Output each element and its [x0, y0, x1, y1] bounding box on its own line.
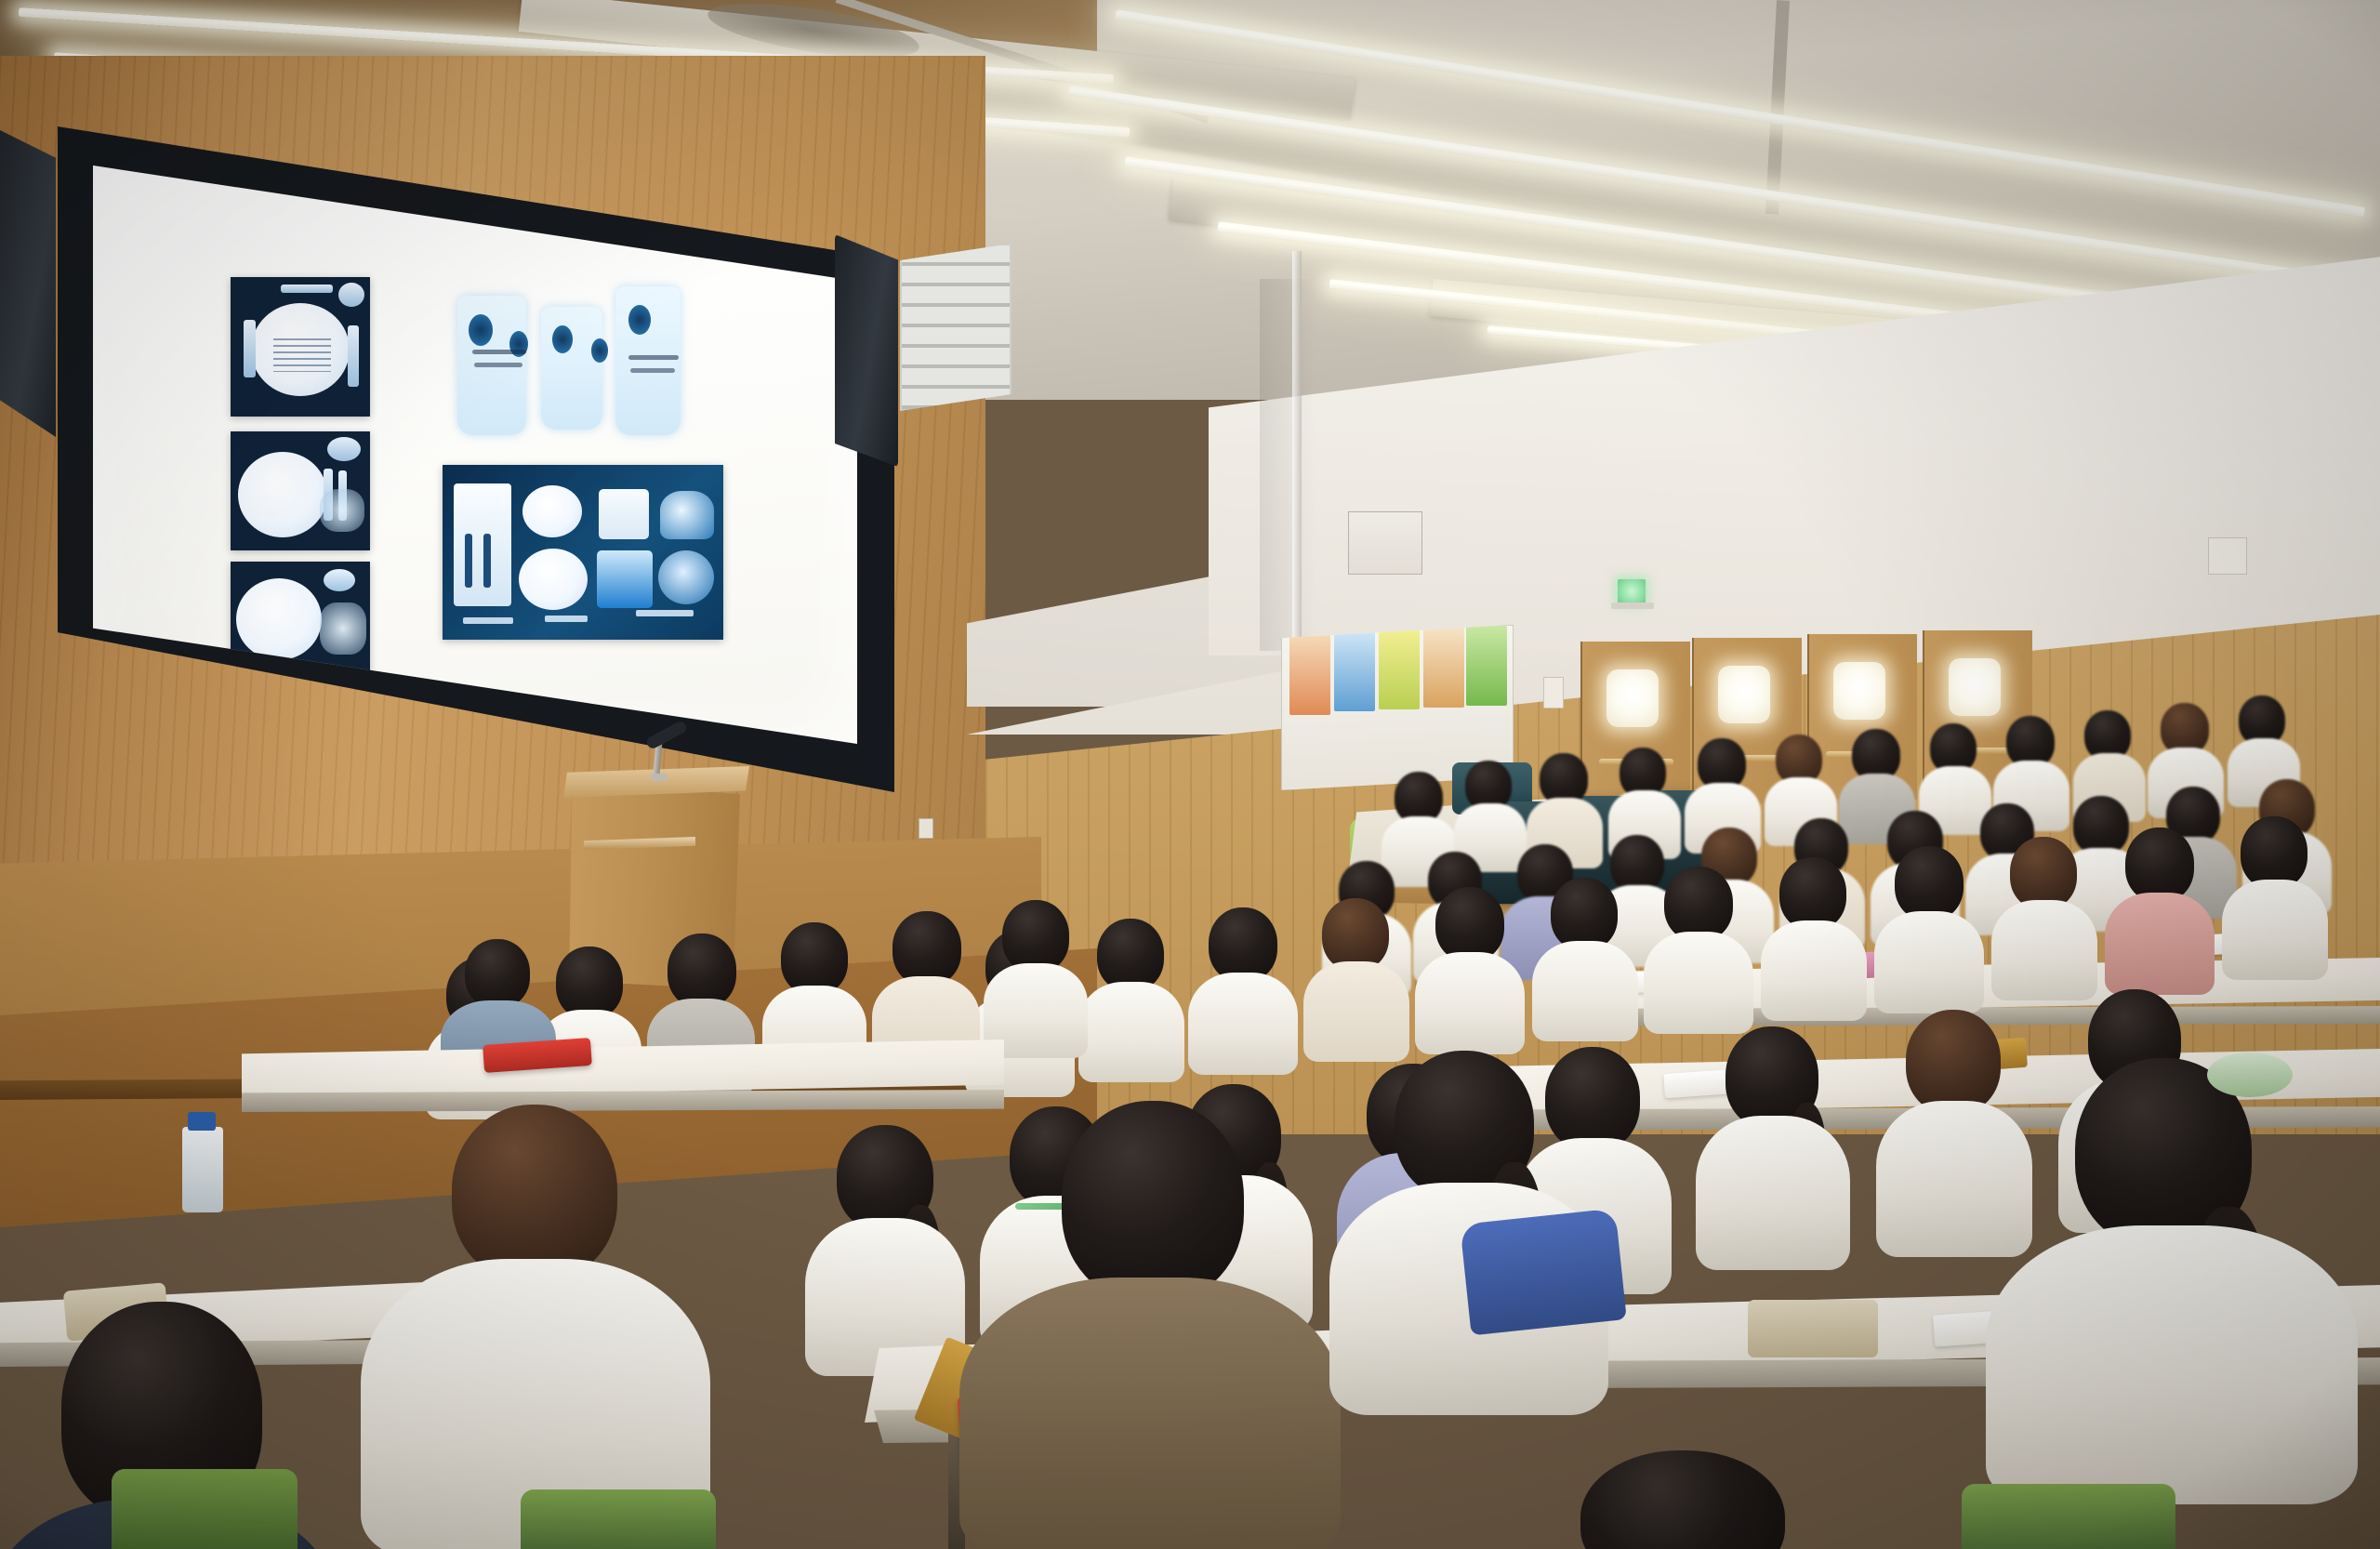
- lecture-hall-photo: [0, 0, 2380, 1549]
- green-seat-3: [1962, 1484, 2175, 1549]
- door-window-3: [1833, 662, 1885, 720]
- slide-image-place-setting-2: [231, 431, 370, 550]
- slide-panel-label-3: [636, 610, 694, 616]
- wall-vent-panel: [1348, 511, 1422, 575]
- slide-image-tableware-panel: [443, 465, 723, 640]
- speaker-left: [0, 130, 56, 437]
- poster-4: [1423, 628, 1464, 708]
- cream-tote-bag: [1748, 1300, 1878, 1357]
- slide-image-bottles: [452, 273, 712, 450]
- bottle-cap: [188, 1112, 216, 1131]
- door-window-4: [1949, 658, 2001, 716]
- speaker-right: [835, 234, 898, 467]
- poster-1: [1289, 635, 1330, 715]
- green-seat-1: [112, 1469, 297, 1549]
- poster-5: [1466, 626, 1507, 706]
- slide-panel-label-2: [545, 616, 588, 622]
- hair-scrunchie: [2207, 1053, 2293, 1097]
- exit-sign: [1618, 579, 1646, 603]
- wall-access-panel: [2208, 537, 2247, 575]
- door-window-2: [1718, 666, 1770, 723]
- poster-3: [1379, 629, 1420, 709]
- blue-garment: [1460, 1209, 1627, 1336]
- water-bottle: [182, 1127, 223, 1212]
- exit-sign-bracket: [1611, 602, 1654, 609]
- poster-2: [1334, 631, 1375, 711]
- slide-panel-label-1: [463, 617, 513, 624]
- slide-image-place-setting-1: [231, 277, 370, 417]
- light-switch[interactable]: [1543, 677, 1564, 708]
- wall-corner-edge: [1292, 251, 1302, 651]
- ventilation-grille: [900, 244, 1011, 411]
- wall-outlet: [919, 818, 933, 839]
- wall-corner-shadow: [1260, 279, 1316, 651]
- door-window-1: [1606, 669, 1659, 727]
- microphone-base: [651, 774, 668, 781]
- green-seat-2: [521, 1489, 716, 1549]
